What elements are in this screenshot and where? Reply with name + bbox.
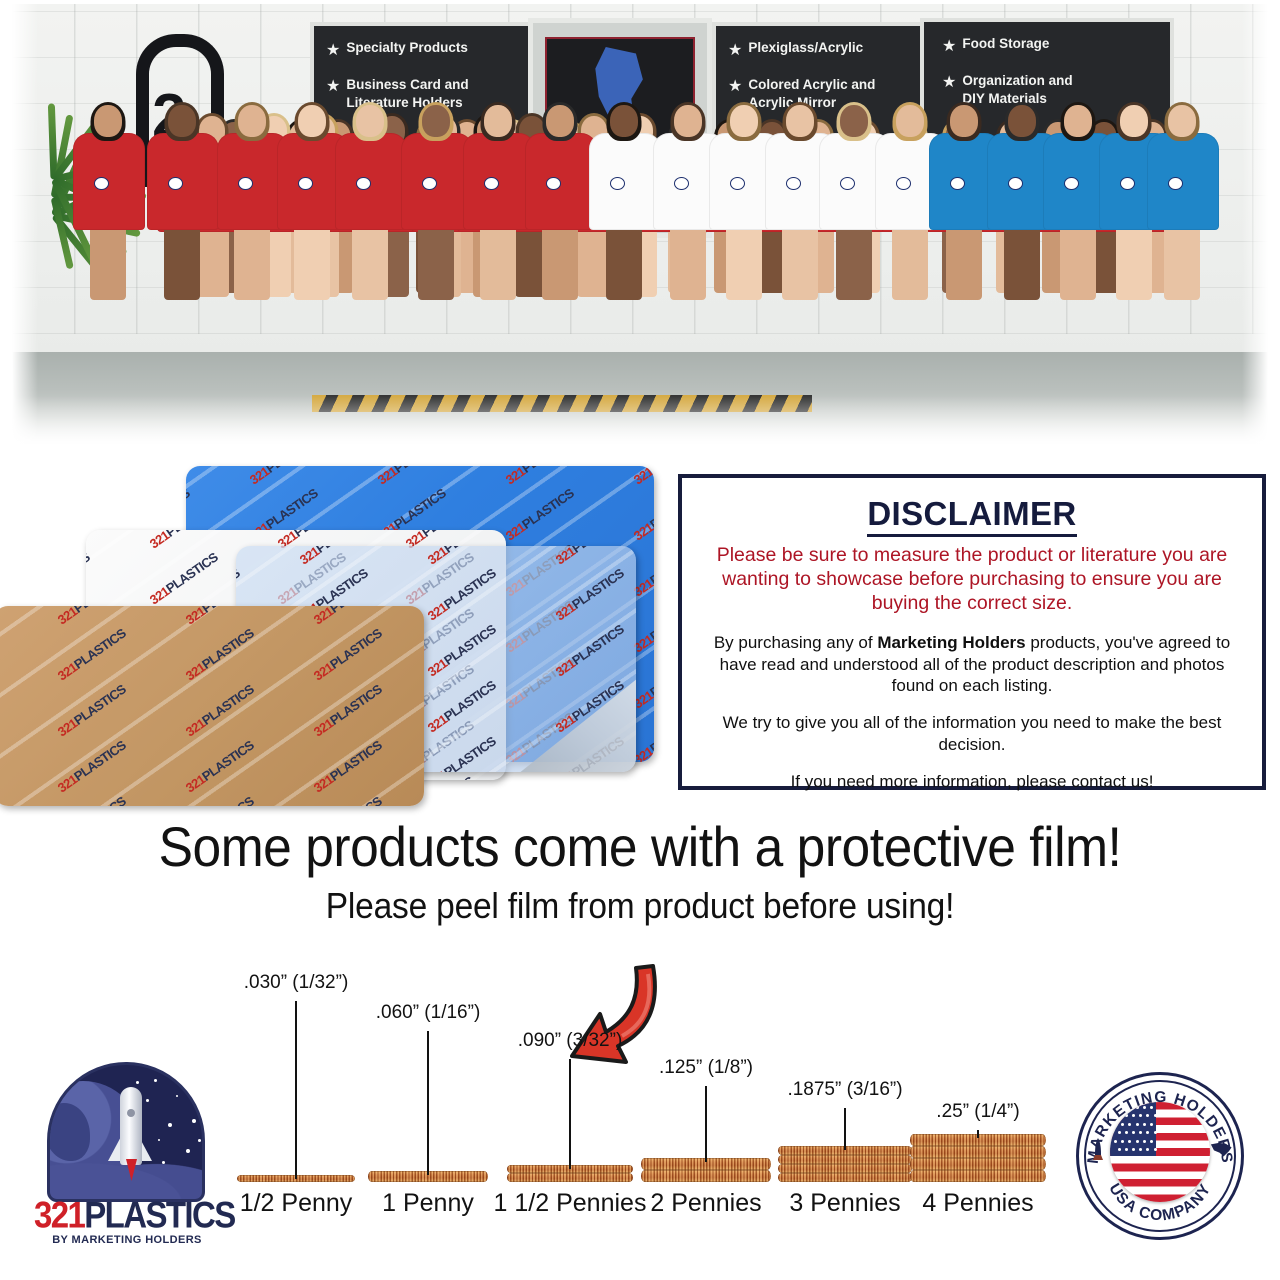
disclaimer-paragraph-1: By purchasing any of Marketing Holders p… xyxy=(700,632,1244,696)
watermark-321plastics: 321PLASTICS xyxy=(631,466,654,487)
penny-coin xyxy=(910,1170,1046,1182)
shirt-logo xyxy=(484,177,499,190)
legs xyxy=(1004,218,1040,300)
penny-count-label: 1 Penny xyxy=(382,1191,474,1216)
watermark-321plastics: 321PLASTICS xyxy=(55,794,127,806)
watermark-321plastics: 321PLASTICS xyxy=(425,622,497,678)
badge-rocket-icon xyxy=(1092,1138,1104,1160)
disclaimer-paragraph-2: We try to give you all of the informatio… xyxy=(700,712,1244,755)
legs xyxy=(542,218,578,300)
watermark-321plastics: 321PLASTICS xyxy=(183,738,255,794)
watermark-321plastics: 321PLASTICS xyxy=(86,530,92,551)
penny-stack: 3 Pennies xyxy=(778,1146,912,1182)
shirt-logo xyxy=(730,177,745,190)
shirt xyxy=(147,133,219,230)
watermark-321plastics: 321PLASTICS xyxy=(553,566,625,622)
headline-secondary: Please peel film from product before usi… xyxy=(45,886,1235,926)
leader-line xyxy=(427,1031,429,1175)
wordmark-plastics: PLASTICS xyxy=(84,1194,234,1235)
watermark-321plastics: 321PLASTICS xyxy=(311,626,383,682)
penny-stack: 4 Pennies xyxy=(910,1134,1046,1182)
watermark-321plastics: 321PLASTICS xyxy=(236,546,242,567)
watermark-321plastics: 321PLASTICS xyxy=(631,486,654,542)
staff-member xyxy=(525,94,595,300)
staff-member xyxy=(589,94,659,300)
head xyxy=(356,105,384,137)
penny-count-label: 1 1/2 Pennies xyxy=(494,1191,647,1216)
legs xyxy=(352,218,388,300)
star-icon xyxy=(196,1101,199,1104)
legs xyxy=(418,218,454,300)
penny-count-label: 2 Pennies xyxy=(650,1191,761,1216)
star-icon xyxy=(198,1139,201,1142)
head xyxy=(610,105,638,137)
logo-tagline: BY MARKETING HOLDERS xyxy=(34,1235,220,1246)
watermark-321plastics: 321PLASTICS xyxy=(311,738,383,794)
disclaimer-red-text: Please be sure to measure the product or… xyxy=(700,544,1244,616)
watermark-321plastics: 321PLASTICS xyxy=(375,466,447,487)
photo-right-fade xyxy=(1242,4,1268,456)
watermark-321plastics: 321PLASTICS xyxy=(55,682,127,738)
star-icon xyxy=(146,1099,149,1102)
star-icon xyxy=(136,1081,139,1084)
star-icon xyxy=(168,1123,172,1127)
watermark-321plastics: 321PLASTICS xyxy=(311,606,383,627)
leader-line xyxy=(844,1108,846,1150)
legs xyxy=(726,218,762,300)
shirt-logo xyxy=(674,177,689,190)
headline-block: Some products come with a protective fil… xyxy=(0,818,1280,926)
leader-line xyxy=(569,1059,571,1169)
logo-321-plastics: 321PLASTICS BY MARKETING HOLDERS xyxy=(34,1062,220,1252)
shirt xyxy=(589,133,661,230)
penny-stack-group: 2 Pennies.125” (1/8”) xyxy=(641,1158,771,1182)
penny-coin xyxy=(910,1146,1046,1158)
staff-member xyxy=(1147,94,1217,300)
shirt xyxy=(1147,133,1219,230)
penny-coin xyxy=(641,1170,771,1182)
star-icon xyxy=(158,1139,160,1141)
shirt-logo xyxy=(422,177,437,190)
thickness-label: .030” (1/32”) xyxy=(244,973,349,992)
watermark-321plastics: 321PLASTICS xyxy=(297,546,369,567)
watermark-321plastics: 321PLASTICS xyxy=(147,530,219,551)
staff-member xyxy=(147,94,217,300)
acrylic-sheets-image: 321PLASTICS321PLASTICS321PLASTICS321PLAS… xyxy=(0,458,670,803)
shirt-logo xyxy=(896,177,911,190)
watermark-321plastics: 321PLASTICS xyxy=(425,566,497,622)
legs xyxy=(294,218,330,300)
head xyxy=(786,105,814,137)
penny-count-label: 4 Pennies xyxy=(922,1191,1033,1216)
star-icon xyxy=(192,1119,196,1123)
photo-bottom-fade xyxy=(12,396,1268,456)
penny-stack-group: 3 Pennies.1875” (3/16”) xyxy=(778,1146,912,1182)
shirt-logo xyxy=(1168,177,1183,190)
logo-wordmark: 321PLASTICS BY MARKETING HOLDERS xyxy=(34,1198,220,1246)
usa-flag-icon xyxy=(1110,1102,1210,1202)
head xyxy=(1008,105,1036,137)
sign-line: Organization and xyxy=(962,73,1072,88)
legs xyxy=(782,218,818,300)
watermark-321plastics: 321PLASTICS xyxy=(311,682,383,738)
penny-count-label: 1/2 Penny xyxy=(240,1191,353,1216)
star-icon xyxy=(154,1079,157,1082)
head xyxy=(1120,105,1148,137)
shirt-logo xyxy=(1064,177,1079,190)
head xyxy=(896,105,924,137)
watermark-321plastics: 321PLASTICS xyxy=(183,606,255,627)
head xyxy=(298,105,326,137)
sign-line: Business Card and xyxy=(346,77,468,92)
star-icon: ★ xyxy=(728,40,742,60)
logo-scene-circle xyxy=(47,1062,205,1202)
disclaimer-paragraph-3: If you need more information, please con… xyxy=(700,771,1244,792)
watermark-321plastics: 321PLASTICS xyxy=(55,606,127,627)
photo-left-fade xyxy=(12,4,38,456)
watermark-321plastics: 321PLASTICS xyxy=(147,550,219,606)
star-icon xyxy=(176,1095,178,1097)
watermark-321plastics: 321PLASTICS xyxy=(425,546,497,567)
head xyxy=(546,105,574,137)
watermark-321plastics: 321PLASTICS xyxy=(425,734,497,772)
penny-stack-group: 1 Penny.060” (1/16”) xyxy=(368,1171,488,1182)
legs xyxy=(606,218,642,300)
watermark-321plastics: 321PLASTICS xyxy=(425,678,497,734)
leader-line xyxy=(295,1001,297,1179)
sign-line: Colored Acrylic and xyxy=(748,77,875,92)
watermark-321plastics: 321PLASTICS xyxy=(553,622,625,678)
head xyxy=(674,105,702,137)
shirt xyxy=(525,133,597,230)
head xyxy=(484,105,512,137)
leader-line xyxy=(705,1086,707,1162)
sign-line: Plexiglass/Acrylic xyxy=(748,40,863,60)
penny-coin xyxy=(507,1173,633,1182)
disclaimer-box: DISCLAIMER Please be sure to measure the… xyxy=(678,474,1266,790)
shirt-logo xyxy=(610,177,625,190)
watermark-321plastics: 321PLASTICS xyxy=(503,486,575,542)
thickness-label: .1875” (3/16”) xyxy=(787,1080,902,1099)
wordmark-321: 321 xyxy=(34,1194,84,1235)
shirt-logo xyxy=(1120,177,1135,190)
head xyxy=(422,105,450,137)
shirt xyxy=(335,133,407,230)
legs xyxy=(1164,218,1200,300)
star-icon xyxy=(186,1149,190,1153)
penny-count-label: 3 Pennies xyxy=(789,1191,900,1216)
sign-line: Specialty Products xyxy=(346,40,468,60)
staff-member xyxy=(73,94,143,300)
thickness-label: .060” (1/16”) xyxy=(376,1003,481,1022)
product-disclaimer-band: 321PLASTICS321PLASTICS321PLASTICS321PLAS… xyxy=(0,458,1280,803)
thickness-label: .125” (1/8”) xyxy=(659,1058,753,1077)
watermark-321plastics: 321PLASTICS xyxy=(311,794,383,806)
watermark-321plastics: 321PLASTICS xyxy=(247,466,319,487)
legs xyxy=(892,218,928,300)
disclaimer-heading: DISCLAIMER xyxy=(700,496,1244,532)
rocket-icon xyxy=(120,1087,142,1165)
watermark-321plastics: 321PLASTICS xyxy=(86,550,92,606)
penny-coin xyxy=(778,1173,912,1182)
head xyxy=(1168,105,1196,137)
watermark-321plastics: 321PLASTICS xyxy=(183,682,255,738)
penny-stack-group: 4 Pennies.25” (1/4”) xyxy=(910,1134,1046,1182)
shirt-logo xyxy=(238,177,253,190)
legs xyxy=(1060,218,1096,300)
head xyxy=(238,105,266,137)
shirt-logo xyxy=(786,177,801,190)
penny-stack-group: 1 1/2 Pennies.090” (3/32”) xyxy=(507,1165,633,1182)
star-icon: ★ xyxy=(942,36,956,56)
penny-stack-group: 1/2 Penny.030” (1/32”) xyxy=(237,1175,355,1182)
shirt-logo xyxy=(840,177,855,190)
logo-marketing-holders: MARKETING HOLDERS USA COMPANY xyxy=(1076,1072,1244,1240)
head xyxy=(730,105,758,137)
infographic-page: 2 ★ Specialty Products ★ Business Card a… xyxy=(0,0,1280,1280)
watermark-321plastics: 321PLASTICS xyxy=(55,738,127,794)
legs xyxy=(836,218,872,300)
watermark-321plastics: 321PLASTICS xyxy=(183,626,255,682)
legs xyxy=(90,218,126,300)
shirt-logo xyxy=(168,177,183,190)
kraft-paper-sheet: 321PLASTICS321PLASTICS321PLASTICS321PLAS… xyxy=(0,606,424,806)
star-icon: ★ xyxy=(326,40,340,60)
penny-coin xyxy=(778,1155,912,1164)
penny-coin xyxy=(778,1164,912,1173)
shirt-logo xyxy=(1008,177,1023,190)
watermark-321plastics: 321PLASTICS xyxy=(183,794,255,806)
legs xyxy=(946,218,982,300)
watermark-321plastics: 321PLASTICS xyxy=(55,626,127,682)
shirt-logo xyxy=(298,177,313,190)
shirt-logo xyxy=(94,177,109,190)
shirt-logo xyxy=(950,177,965,190)
legs xyxy=(164,218,200,300)
watermark-321plastics: 321PLASTICS xyxy=(186,466,192,487)
staff-member xyxy=(335,94,405,300)
staff-group xyxy=(12,92,1268,392)
leader-line xyxy=(977,1130,979,1138)
head xyxy=(168,105,196,137)
team-photo: 2 ★ Specialty Products ★ Business Card a… xyxy=(12,4,1268,456)
head xyxy=(94,105,122,137)
head xyxy=(840,105,868,137)
shirt-logo xyxy=(356,177,371,190)
head xyxy=(1064,105,1092,137)
thickness-label: .090” (3/32”) xyxy=(518,1031,623,1050)
legs xyxy=(670,218,706,300)
legs xyxy=(234,218,270,300)
staff-member xyxy=(463,94,533,300)
legs xyxy=(480,218,516,300)
penny-coin xyxy=(910,1158,1046,1170)
head xyxy=(950,105,978,137)
thickness-label: .25” (1/4”) xyxy=(936,1102,1019,1121)
sign-line: Food Storage xyxy=(962,36,1049,56)
shirt xyxy=(73,133,145,230)
staff-member xyxy=(401,94,471,300)
shirt-logo xyxy=(546,177,561,190)
headline-primary: Some products come with a protective fil… xyxy=(51,818,1229,876)
watermark-321plastics: 321PLASTICS xyxy=(503,466,575,487)
watermark-321plastics: 321PLASTICS xyxy=(553,546,625,567)
